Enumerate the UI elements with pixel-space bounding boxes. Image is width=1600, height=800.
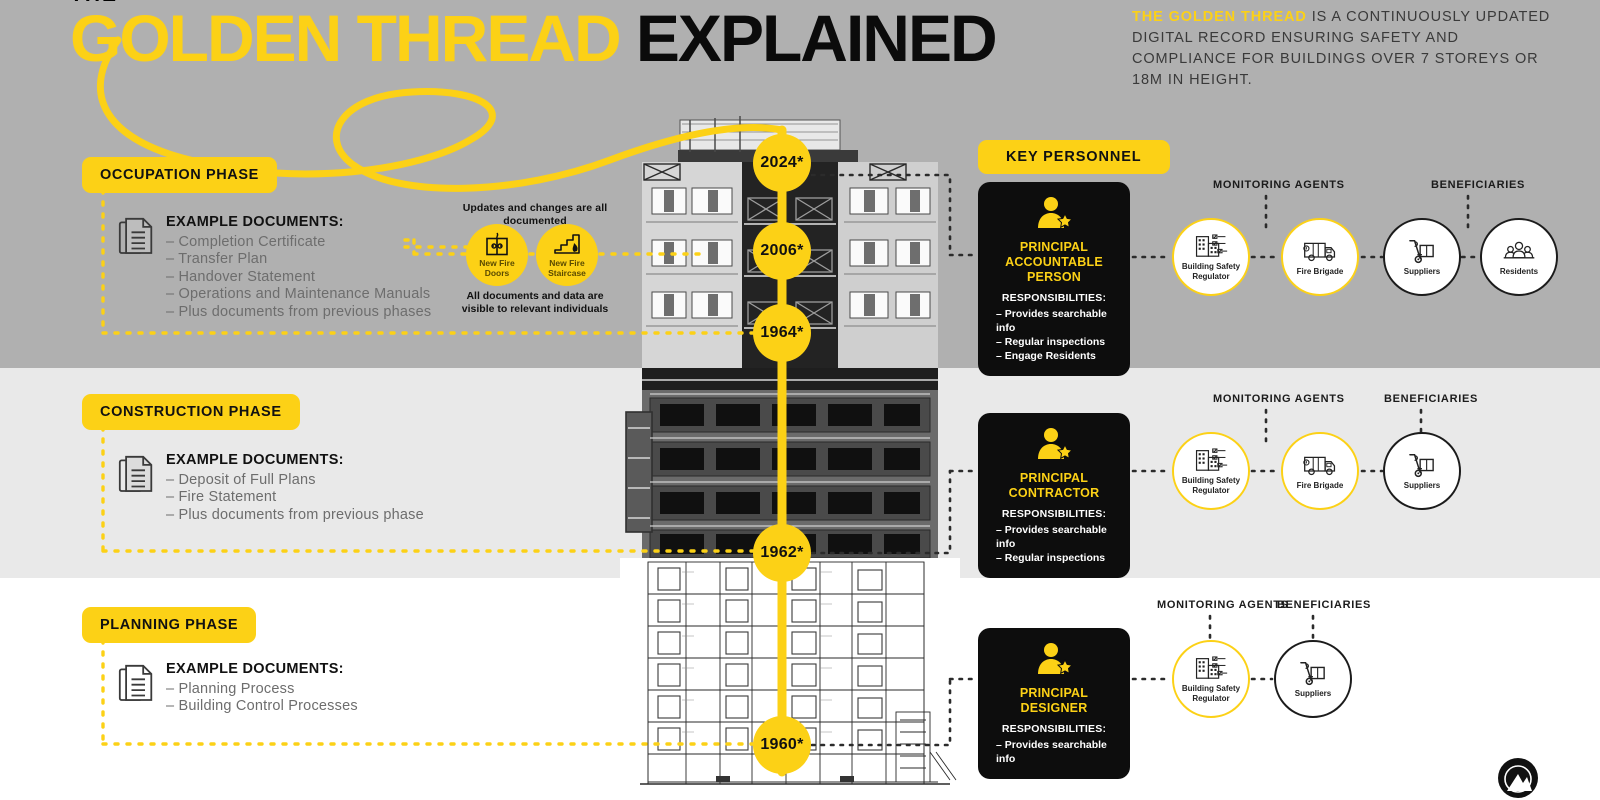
doc-item: – Operations and Maintenance Manuals	[166, 286, 431, 304]
update-label-line1: New Fire	[479, 258, 514, 268]
responsibilities-heading: RESPONSIBILITIES:	[988, 508, 1120, 520]
agent-label-line1: Building Safety	[1182, 262, 1240, 271]
doc-item: – Plus documents from previous phase	[166, 507, 424, 525]
infographic-canvas: THE GOLDEN THREAD EXPLAINED THE GOLDEN T…	[0, 0, 1600, 800]
card-principal-accountable-person[interactable]: PRINCIPAL ACCOUNTABLE PERSON RESPONSIBIL…	[978, 182, 1130, 376]
agent-building-safety-regulator-row3[interactable]: Building Safety Regulator	[1172, 640, 1250, 718]
key-personnel-label[interactable]: KEY PERSONNEL	[978, 140, 1170, 174]
hand-truck-icon	[1405, 238, 1439, 264]
example-documents-construction: EXAMPLE DOCUMENTS: – Deposit of Full Pla…	[118, 452, 424, 524]
beneficiary-residents-row1[interactable]: Residents	[1480, 218, 1558, 296]
header-description: THE GOLDEN THREAD IS A CONTINUOUSLY UPDA…	[1132, 7, 1552, 91]
person-star-icon	[1034, 196, 1074, 230]
building-regulator-icon	[1194, 655, 1228, 681]
responsibilities-heading: RESPONSIBILITIES:	[988, 723, 1120, 735]
updates-caption-bottom: All documents and data are visible to re…	[450, 290, 620, 316]
card-title: PRINCIPAL CONTRACTOR	[988, 471, 1120, 501]
doc-item: – Fire Statement	[166, 489, 424, 507]
example-documents-occupation: EXAMPLE DOCUMENTS: – Completion Certific…	[118, 214, 431, 321]
beneficiary-label-line1: Suppliers	[1295, 689, 1331, 698]
update-new-fire-staircase[interactable]: New Fire Staircase	[536, 224, 598, 286]
title-golden-thread: GOLDEN THREAD	[70, 1, 620, 75]
fire-staircase-icon	[553, 232, 581, 256]
responsibility-item: – Provides searchable info	[988, 738, 1120, 766]
caption-beneficiaries-row3: BENEFICIARIES	[1277, 599, 1371, 611]
agent-label-line2: Regulator	[1192, 486, 1229, 495]
agent-label-line2: Regulator	[1192, 272, 1229, 281]
update-new-fire-doors[interactable]: New Fire Doors	[466, 224, 528, 286]
timeline-year-2006[interactable]: 2006*	[753, 222, 811, 280]
agent-label-line1: Fire Brigade	[1297, 481, 1344, 490]
caption-monitoring-agents-row1: MONITORING AGENTS	[1213, 179, 1345, 191]
agent-building-safety-regulator-row2[interactable]: Building Safety Regulator	[1172, 432, 1250, 510]
responsibilities-heading: RESPONSIBILITIES:	[988, 292, 1120, 304]
caption-monitoring-agents-row3: MONITORING AGENTS	[1157, 599, 1289, 611]
update-label-line2: Doors	[485, 268, 510, 278]
doc-item: – Handover Statement	[166, 269, 431, 287]
beneficiary-suppliers-row2[interactable]: Suppliers	[1383, 432, 1461, 510]
title-explained: EXPLAINED	[636, 1, 996, 75]
description-highlight: THE GOLDEN THREAD	[1132, 9, 1307, 25]
docs-heading: EXAMPLE DOCUMENTS:	[166, 452, 424, 470]
fire-engine-icon	[1303, 452, 1337, 478]
document-stack-icon	[118, 664, 154, 704]
agent-label-line2: Regulator	[1192, 694, 1229, 703]
responsibility-item: – Provides searchable info	[988, 523, 1120, 551]
timeline-year-1962[interactable]: 1962*	[753, 524, 811, 582]
beneficiary-label-line1: Suppliers	[1404, 267, 1440, 276]
card-title: PRINCIPAL DESIGNER	[988, 686, 1120, 716]
building-regulator-icon	[1194, 447, 1228, 473]
document-stack-icon	[118, 217, 154, 257]
fire-engine-icon	[1303, 238, 1337, 264]
responsibility-item: – Provides searchable info	[988, 307, 1120, 335]
example-documents-planning: EXAMPLE DOCUMENTS: – Planning Process – …	[118, 661, 358, 716]
card-title: PRINCIPAL ACCOUNTABLE PERSON	[988, 240, 1120, 285]
update-label-line2: Staircase	[548, 268, 586, 278]
timeline-year-1960[interactable]: 1960*	[753, 716, 811, 774]
beneficiary-suppliers-row1[interactable]: Suppliers	[1383, 218, 1461, 296]
agent-fire-brigade-row2[interactable]: Fire Brigade	[1281, 432, 1359, 510]
doc-item: – Completion Certificate	[166, 234, 431, 252]
building-illustration	[620, 112, 960, 800]
fire-door-icon	[484, 232, 510, 256]
people-group-icon	[1502, 238, 1536, 264]
brand-logo-icon[interactable]	[1497, 757, 1539, 799]
phase-label-occupation[interactable]: OCCUPATION PHASE	[82, 157, 277, 193]
responsibility-item: – Regular inspections	[988, 335, 1120, 349]
update-label-line1: New Fire	[549, 258, 584, 268]
caption-beneficiaries-row1: BENEFICIARIES	[1431, 179, 1525, 191]
agent-fire-brigade-row1[interactable]: Fire Brigade	[1281, 218, 1359, 296]
timeline-year-1964[interactable]: 1964*	[753, 304, 811, 362]
docs-heading: EXAMPLE DOCUMENTS:	[166, 214, 431, 232]
card-principal-designer[interactable]: PRINCIPAL DESIGNER RESPONSIBILITIES: – P…	[978, 628, 1130, 779]
docs-heading: EXAMPLE DOCUMENTS:	[166, 661, 358, 679]
timeline-year-2024[interactable]: 2024*	[753, 134, 811, 192]
caption-beneficiaries-row2: BENEFICIARIES	[1384, 393, 1478, 405]
building-regulator-icon	[1194, 233, 1228, 259]
agent-label-line1: Fire Brigade	[1297, 267, 1344, 276]
doc-item: – Building Control Processes	[166, 698, 358, 716]
beneficiary-suppliers-row3[interactable]: Suppliers	[1274, 640, 1352, 718]
agent-building-safety-regulator-row1[interactable]: Building Safety Regulator	[1172, 218, 1250, 296]
beneficiary-label-line1: Residents	[1500, 267, 1538, 276]
responsibility-item: – Regular inspections	[988, 551, 1120, 565]
header: THE GOLDEN THREAD EXPLAINED THE GOLDEN T…	[0, 0, 1600, 70]
agent-label-line1: Building Safety	[1182, 476, 1240, 485]
hand-truck-icon	[1405, 452, 1439, 478]
person-star-icon	[1034, 642, 1074, 676]
phase-label-planning[interactable]: PLANNING PHASE	[82, 607, 256, 643]
beneficiary-label-line1: Suppliers	[1404, 481, 1440, 490]
phase-label-construction[interactable]: CONSTRUCTION PHASE	[82, 394, 300, 430]
hand-truck-icon	[1296, 660, 1330, 686]
doc-item: – Transfer Plan	[166, 251, 431, 269]
doc-item: – Plus documents from previous phases	[166, 304, 431, 322]
doc-item: – Deposit of Full Plans	[166, 472, 424, 490]
responsibility-item: – Engage Residents	[988, 349, 1120, 363]
update-circle-group: New Fire Doors New Fire Staircase	[466, 224, 598, 286]
card-principal-contractor[interactable]: PRINCIPAL CONTRACTOR RESPONSIBILITIES: –…	[978, 413, 1130, 578]
page-title: THE GOLDEN THREAD EXPLAINED	[70, 0, 996, 72]
person-star-icon	[1034, 427, 1074, 461]
doc-item: – Planning Process	[166, 681, 358, 699]
caption-monitoring-agents-row2: MONITORING AGENTS	[1213, 393, 1345, 405]
document-stack-icon	[118, 455, 154, 495]
agent-label-line1: Building Safety	[1182, 684, 1240, 693]
